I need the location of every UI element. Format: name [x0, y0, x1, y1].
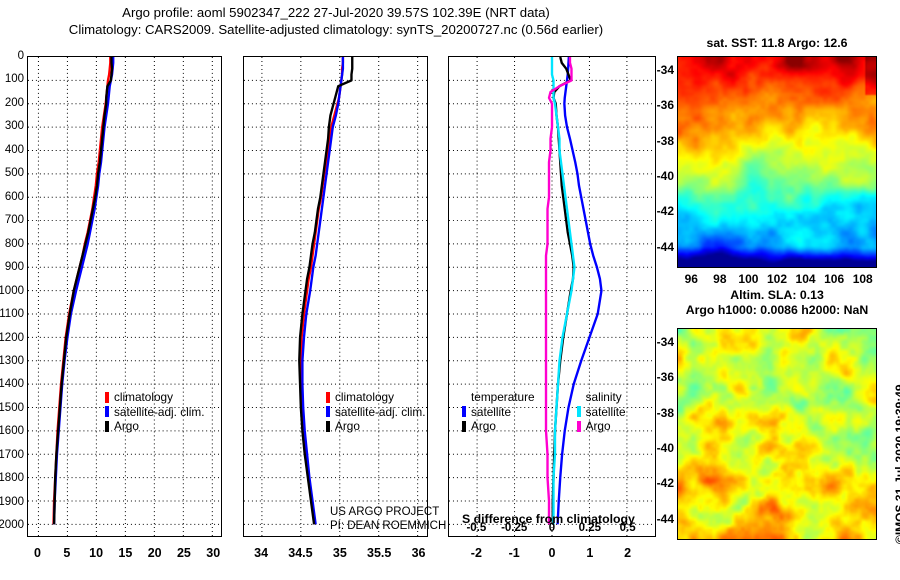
latitude-tick-label: -36: [657, 370, 674, 384]
longitude-tick-label: 108: [853, 272, 873, 286]
latitude-tick-label: -40: [657, 441, 674, 455]
latitude-tick-label: -42: [657, 476, 674, 490]
longitude-tick-label: 102: [767, 272, 787, 286]
longitude-tick-label: 98: [713, 272, 726, 286]
longitude-tick-label: 104: [796, 272, 816, 286]
longitude-tick-label: 106: [824, 272, 844, 286]
sla-map-latitude-labels: -34-36-38-40-42-44: [0, 0, 674, 580]
latitude-tick-label: -34: [657, 335, 674, 349]
sst-map[interactable]: [677, 56, 877, 268]
longitude-tick-label: 100: [738, 272, 758, 286]
sla-map[interactable]: [677, 328, 877, 540]
sst-map-title: sat. SST: 11.8 Argo: 12.6: [647, 36, 900, 50]
sla-map-title-line-1: Altim. SLA: 0.13: [647, 288, 900, 302]
copyright-text: ©IMOS 31-Jul-2020 19:39:49: [893, 384, 900, 544]
latitude-tick-label: -44: [657, 512, 674, 526]
longitude-tick-label: 96: [685, 272, 698, 286]
latitude-tick-label: -38: [657, 406, 674, 420]
